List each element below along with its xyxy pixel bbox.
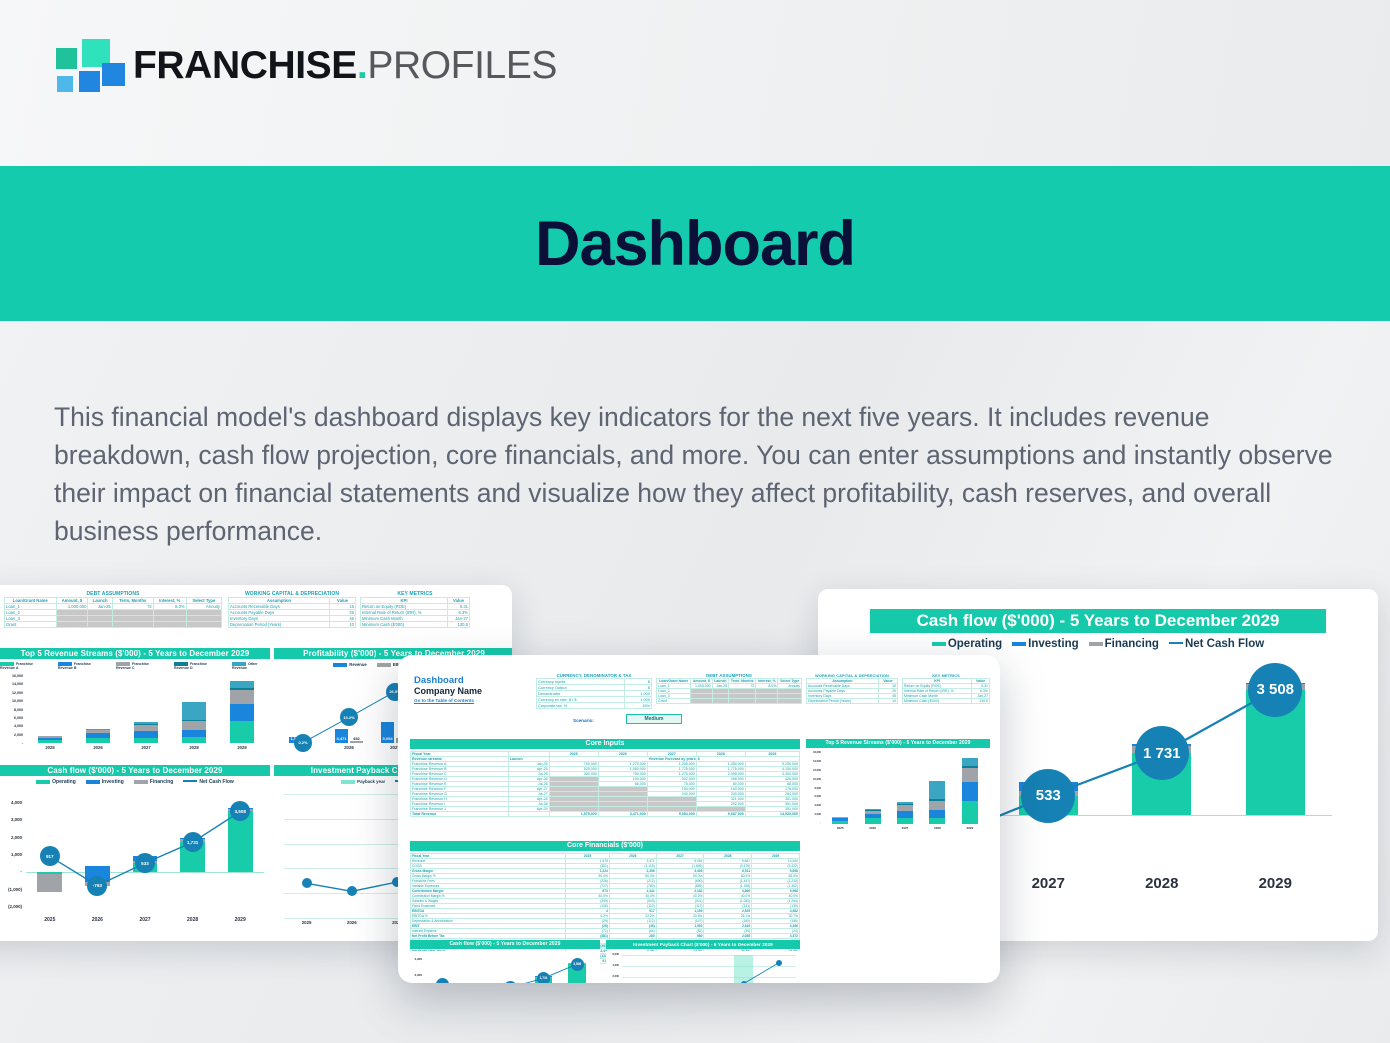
bar-segment [897, 811, 913, 819]
screenshot-showcase: & TAX $$1,0001,00015% DEBT ASSUMPTIONS L… [0, 585, 1390, 1005]
bar-segment [230, 690, 254, 704]
legend-item: Financing [134, 779, 174, 785]
bar-segment [897, 802, 913, 804]
x-axis-label: 2025 [822, 826, 858, 830]
table-row: Depreciation Period (Years)10 [229, 622, 356, 628]
left-cashflow-chart-title: Cash flow ($'000) - 5 Years to December … [0, 765, 270, 776]
title-band: Dashboard [0, 166, 1390, 321]
table-cell: Total Revenue [411, 812, 509, 817]
legend-item: Payback year [341, 779, 385, 784]
left-cashflow-legend: OperatingInvestingFinancingNet Cash Flow [0, 777, 270, 785]
left-revenue-chart-title: Top 5 Revenue Streams ($'000) - 5 Years … [0, 648, 270, 659]
bar-segment [182, 721, 206, 730]
table-cell: Depreciation Period (Years) [229, 622, 330, 628]
bar-segment [38, 736, 62, 737]
data-label-bubble: 533 [135, 853, 155, 873]
table-cell: 9,687,000 [696, 812, 745, 817]
table-row: Total Revenue1,575,0003,471,0005,054,000… [411, 812, 800, 817]
key-metrics-section: KEY METRICS KPIValueReturn on Equity (RO… [360, 591, 470, 628]
x-axis-label: 2025 [32, 745, 68, 750]
y-axis-label: (2,000) [0, 904, 22, 909]
bar-segment [897, 804, 913, 805]
right-cashflow-title: Cash flow ($'000) - 5 Years to December … [870, 609, 1326, 633]
x-axis-label: 2026 [855, 826, 891, 830]
left-revenue-chart-plot: -2,0004,0006,0008,00010,00012,00014,0001… [0, 673, 270, 755]
table-cell: Corporate tax, % [537, 703, 625, 709]
center-payback-chart-title: Investment Payback Chart ($'000) - 5 Yea… [606, 940, 800, 949]
y-axis-label: (1,000) [0, 887, 22, 892]
bar-segment [962, 801, 978, 824]
y-axis-label: 8,000 [806, 787, 821, 790]
center-card-title: Dashboard [414, 675, 464, 686]
x-axis-label: 2029 [1253, 875, 1297, 892]
center-revenue-chart-title: Top 5 Revenue Streams ($'000) - 5 Years … [806, 739, 990, 748]
bar-segment [134, 725, 158, 730]
y-axis-label: - [0, 869, 22, 874]
table-cell [153, 622, 186, 628]
x-axis-label: 2027 [128, 745, 164, 750]
table-cell: 15% [624, 703, 651, 709]
table-cell: 130.5 [448, 622, 470, 628]
y-axis-label: 4,000 [0, 724, 23, 728]
table-row: Minimum Cash ($'000)130.5 [903, 699, 990, 704]
center-revenue-plot: -2,0004,0006,0008,00010,00012,00014,0001… [806, 750, 990, 834]
y-axis-label: 2,000 [806, 813, 821, 816]
bar-segment [134, 722, 158, 724]
bar-segment [929, 801, 945, 810]
data-label-bubble: 917 [40, 846, 60, 866]
table-cell [691, 699, 712, 704]
y-axis-label: 6,000 [0, 716, 23, 720]
y-axis-label: 2,000 [410, 973, 422, 977]
working-capital-title: WORKING CAPITAL & DEPRECIATION [228, 591, 356, 597]
left-panel-assumption-tables: & TAX $$1,0001,00015% DEBT ASSUMPTIONS L… [0, 591, 512, 647]
bar-segment [86, 733, 110, 737]
y-axis-label: - [0, 741, 23, 745]
bar-segment [865, 810, 881, 811]
bar-segment [832, 818, 848, 820]
x-axis-label: 2027 [123, 917, 167, 923]
table-cell: 5,054,000 [647, 812, 696, 817]
bar-segment [230, 704, 254, 721]
x-axis-label: 2029 [218, 917, 262, 923]
data-label-bubble: 1,731 [537, 972, 550, 983]
table-row: Grant [657, 699, 802, 704]
bar-segment [230, 721, 254, 743]
column-header: Amount, $ [691, 679, 712, 684]
bar-segment [865, 814, 881, 819]
x-axis-label: 2029 [224, 745, 260, 750]
table-cell [88, 622, 112, 628]
table-cell: 3,471,000 [598, 812, 647, 817]
column-header: Loan/Grant Name [657, 679, 691, 684]
center-debt-section: DEBT ASSUMPTIONS Loan/Grant NameAmount, … [656, 673, 802, 704]
data-label-bubble: 1 731 [1135, 726, 1189, 780]
x-axis-label: 2028 [171, 917, 215, 923]
legend-item: Net Cash Flow [183, 779, 233, 785]
bar-segment [38, 740, 62, 743]
bar-segment [832, 817, 848, 818]
working-capital-section: WORKING CAPITAL & DEPRECIATION Assumptio… [228, 591, 356, 628]
debt-assumptions-section: DEBT ASSUMPTIONS Loan/Grant NameAmount, … [4, 591, 222, 628]
x-axis-label: 2027 [1026, 875, 1070, 892]
table-cell [712, 699, 728, 704]
y-axis-label: 2,000 [0, 733, 23, 737]
brand-name-light: PROFILES [367, 44, 557, 87]
x-axis-label: 2027 [887, 826, 923, 830]
table-cell: Minimum Cash ($'000) [903, 699, 972, 704]
y-axis-label: 10,000 [806, 778, 821, 781]
bar-segment [182, 702, 206, 719]
legend-item: Franchise Revenue A [0, 662, 48, 670]
data-label-bubble: 1,731 [183, 832, 203, 852]
bar-segment [962, 768, 978, 783]
center-km-section: KEY METRICS KPIValueReturn on Equity (RO… [902, 673, 990, 704]
column-header: Interest, % [756, 679, 778, 684]
legend-item: Net Cash Flow [1169, 638, 1264, 650]
bar-segment [929, 781, 945, 799]
x-axis-label: 2028 [919, 826, 955, 830]
table-cell: Depreciation Period (Years) [807, 699, 879, 704]
core-financials-title: Core Financials ($'000) [410, 841, 800, 851]
data-point-marker [741, 981, 747, 983]
core-inputs-title: Core Inputs [410, 739, 800, 749]
legend-item: Franchise Revenue B [58, 662, 106, 670]
y-axis-label: 12,000 [0, 691, 23, 695]
legend-item: Revenue [333, 662, 366, 667]
scenario-select[interactable]: Medium [626, 714, 682, 724]
table-of-contents-link[interactable]: Go to the Table of Contents [414, 698, 474, 703]
x-axis-label: 2026 [336, 920, 368, 925]
data-label-bubble: 3 508 [1248, 663, 1302, 717]
data-label-bubble: -763 [87, 876, 107, 896]
center-cashflow-plot: 4,0002,000-(2,000)2025202620272028202991… [410, 951, 600, 983]
bar-segment [832, 821, 848, 824]
column-header: Launch [712, 679, 728, 684]
left-revenue-chart-legend: Franchise Revenue AFranchise Revenue BFr… [0, 660, 270, 670]
bar-segment [134, 731, 158, 738]
bar-segment [37, 874, 62, 892]
brand-name-dot: . [357, 44, 367, 87]
y-axis-label: 6,000 [806, 795, 821, 798]
bar-segment [865, 810, 881, 813]
table-cell: 10 [878, 699, 897, 704]
page-description: This financial model's dashboard display… [54, 398, 1344, 550]
right-cashflow-legend: OperatingInvestingFinancingNet Cash Flow [870, 636, 1326, 650]
bar-segment [962, 782, 978, 800]
table-row: Corporate tax, %15% [537, 703, 652, 709]
y-axis-label: 14,000 [0, 682, 23, 686]
legend-item: Franchise Revenue C [116, 662, 164, 670]
y-axis-label: 16,000 [806, 751, 821, 754]
brand-wordmark: FRANCHISE.PROFILES [133, 44, 557, 88]
bar-segment [929, 818, 945, 824]
bar-segment [182, 730, 206, 737]
table-cell [56, 622, 88, 628]
y-axis-label: 2,000 [0, 835, 22, 840]
y-axis-label: 4,000 [806, 804, 821, 807]
bar-segment [230, 681, 254, 689]
data-point-marker [302, 878, 312, 888]
bar-segment [230, 688, 254, 690]
table-cell: 14,920,000 [745, 812, 799, 817]
y-axis-label: - [806, 822, 821, 825]
bar-segment [897, 805, 913, 811]
bar-segment [962, 758, 978, 766]
x-axis-label: 2025 [291, 920, 323, 925]
legend-item: Financing [1089, 638, 1159, 650]
column-header: Select Type [778, 679, 802, 684]
table-cell [112, 622, 153, 628]
left-cashflow-plot: 4,0003,0002,0001,000-(1,000)(2,000)20252… [0, 790, 270, 930]
table-cell [508, 812, 549, 817]
pct-label-bubble: 0.2% [294, 734, 312, 752]
table-cell [756, 699, 778, 704]
page-title: Dashboard [535, 208, 855, 280]
y-axis-label: 14,000 [806, 760, 821, 763]
x-axis-label: 2025 [28, 917, 72, 923]
bar-segment [929, 810, 945, 818]
preview-panel-center[interactable]: Dashboard Company Name Go to the Table o… [398, 655, 1000, 983]
bar-segment [86, 730, 110, 733]
table-row: Minimum Cash ($'000)130.5 [361, 622, 470, 628]
data-label-bubble: 917 [436, 978, 449, 983]
brand-name-bold: FRANCHISE [133, 44, 357, 87]
y-axis-label: 12,000 [806, 769, 821, 772]
legend-item: Operating [932, 638, 1002, 650]
legend-item: Investing [1012, 638, 1078, 650]
x-axis-label: 2026 [75, 917, 119, 923]
x-axis-label: 2029 [952, 826, 988, 830]
bar-segment [86, 738, 110, 743]
bar-segment [929, 799, 945, 801]
data-label-bubble: 533 [504, 981, 517, 983]
x-axis-label: 2028 [1140, 875, 1184, 892]
y-axis-label: 8,000 [0, 708, 23, 712]
bar-segment [182, 720, 206, 722]
brand-logo: FRANCHISE.PROFILES [55, 38, 557, 94]
bar-segment [134, 738, 158, 743]
bar-segment [897, 818, 913, 824]
center-wc-title: WORKING CAPITAL & DEPRECIATION [806, 673, 898, 678]
column-header: Term, Months [729, 679, 756, 684]
table-cell [186, 622, 221, 628]
y-axis-label: 3,000 [0, 817, 22, 822]
legend-item: Other Revenue [232, 662, 270, 670]
x-axis-label: 2026 [80, 745, 116, 750]
legend-item: Operating [36, 779, 76, 785]
table-row: Depreciation Period (Years)10 [807, 699, 898, 704]
bar-segment [86, 729, 110, 730]
table-row: Grant [5, 622, 222, 628]
data-label-bubble: 3,508 [571, 958, 584, 971]
bar-segment [134, 724, 158, 725]
bar-segment [865, 818, 881, 824]
table-cell: Minimum Cash ($'000) [361, 622, 448, 628]
scenario-label: Scenario: [573, 718, 594, 723]
center-wc-section: WORKING CAPITAL & DEPRECIATION Assumptio… [806, 673, 898, 704]
table-cell: 1,575,000 [549, 812, 598, 817]
table-cell [778, 699, 802, 704]
center-cashflow-chart-title: Cash flow ($'000) - 5 Years to December … [410, 940, 600, 949]
y-axis-label: 16,000 [0, 674, 23, 678]
data-point-marker [776, 960, 782, 966]
y-axis-label: 4,000 [0, 800, 22, 805]
table-cell: 130.5 [972, 699, 990, 704]
y-axis-label: 10,000 [0, 699, 23, 703]
x-axis-label: 2028 [176, 745, 212, 750]
logo-squares-icon [55, 38, 117, 94]
data-label-bubble: 533 [1021, 769, 1075, 823]
table-cell: Grant [5, 622, 57, 628]
bar-segment [182, 737, 206, 743]
table-cell: 10 [330, 622, 356, 628]
table-cell: Grant [657, 699, 691, 704]
center-payback-plot: 6,0004,0002,000-(2,000)(4,000)2025202620… [606, 951, 800, 983]
page-header: FRANCHISE.PROFILES [0, 0, 1390, 166]
legend-item: Investing [86, 779, 124, 785]
bar-segment [38, 738, 62, 740]
bar-segment [962, 766, 978, 768]
center-card-company: Company Name [414, 686, 482, 696]
legend-item: Franchise Revenue D [174, 662, 222, 670]
currency-section: CURRENCY, DENOMINATOR & TAX Currency Inp… [536, 673, 652, 709]
table-cell [729, 699, 756, 704]
y-axis-label: 1,000 [0, 852, 22, 857]
y-axis-label: 4,000 [410, 957, 422, 961]
